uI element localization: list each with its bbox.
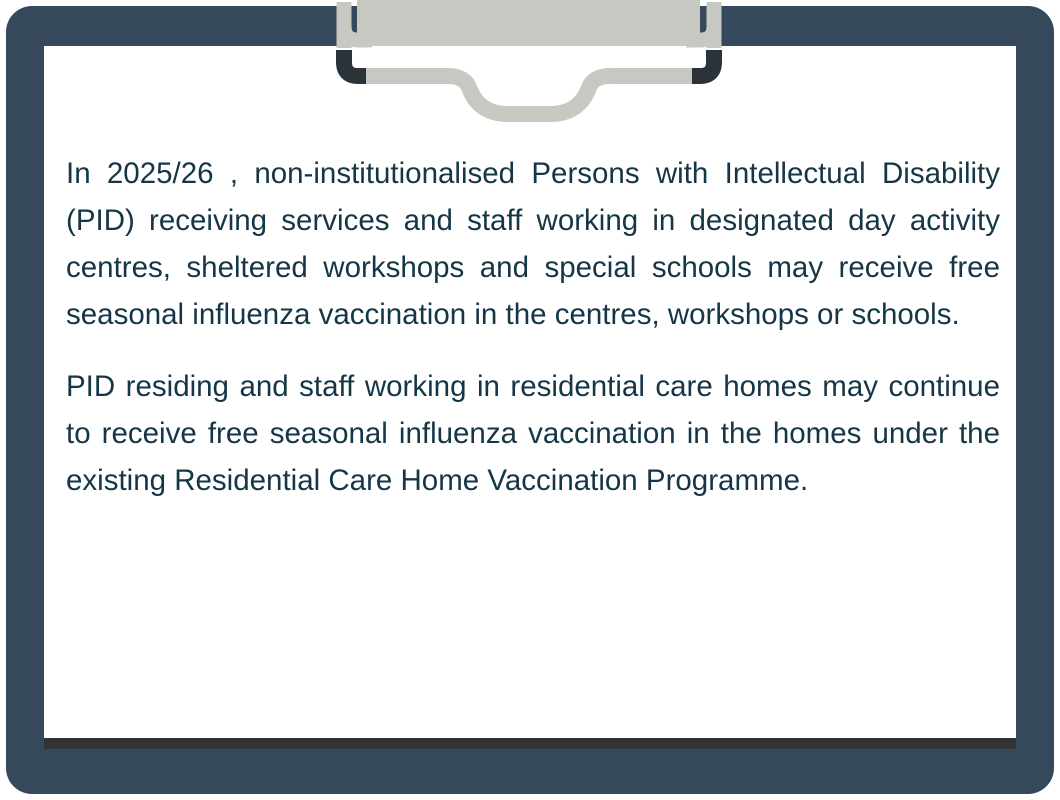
note-text-content: In 2025/26 , non-institutionalised Perso… (66, 150, 1000, 504)
paper-bottom-strip (44, 738, 1016, 749)
paragraph-1: In 2025/26 , non-institutionalised Perso… (66, 150, 1000, 338)
clipboard-clip (0, 0, 1060, 130)
clip-bracket-icon (0, 0, 1060, 130)
clipboard-graphic: In 2025/26 , non-institutionalised Perso… (0, 0, 1060, 800)
paragraph-2: PID residing and staff working in reside… (66, 363, 1000, 504)
